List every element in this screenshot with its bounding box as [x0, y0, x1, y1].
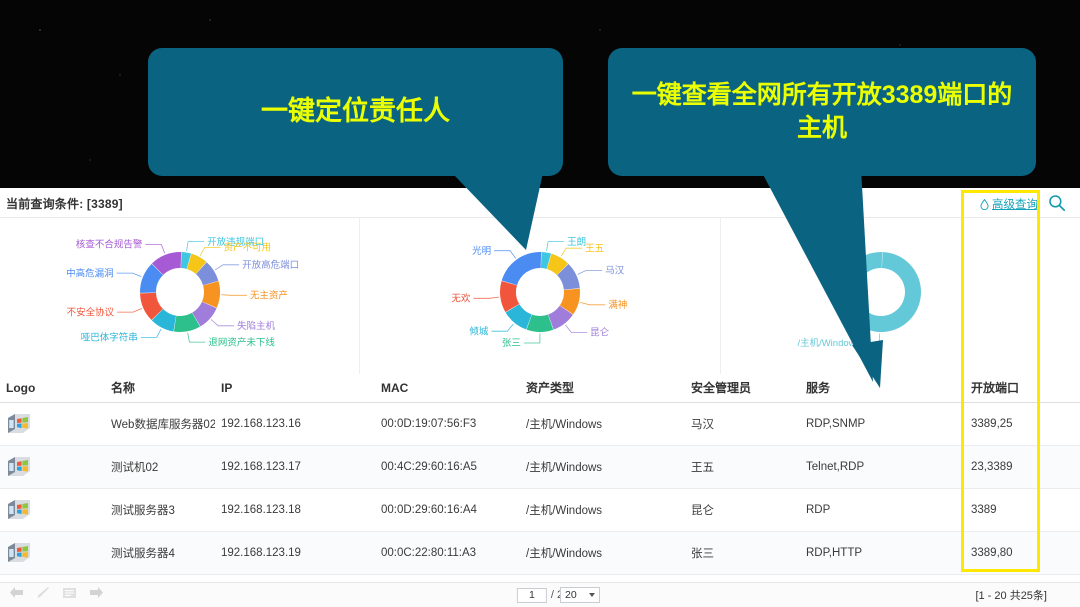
donut-segment-label: 张三	[502, 338, 521, 349]
donut-segment-label: 无主资产	[250, 290, 288, 302]
page-size-select[interactable]: 20	[560, 587, 600, 603]
asset-table: Logo 名称 IP MAC 资产类型 安全管理员 服务 开放端口 Web数据库…	[0, 374, 1080, 575]
callout-locate-owner: 一键定位责任人	[148, 48, 563, 176]
cell-security-admin: 张三	[685, 531, 800, 574]
donut-segment-label: 无欢	[452, 292, 472, 304]
cell-logo	[0, 402, 105, 445]
donut-segment-label: 开放高危端口	[242, 259, 299, 271]
pencil-icon[interactable]	[36, 586, 50, 604]
footer-action-icons	[0, 586, 104, 604]
list-icon[interactable]	[62, 586, 77, 604]
table-row[interactable]: 测试机02192.168.123.1700:4C:29:60:16:A5/主机/…	[0, 445, 1080, 488]
donut-leader-line	[581, 302, 606, 304]
donut-leader-line	[566, 325, 588, 333]
table-row[interactable]: 测试服务器3192.168.123.1800:0D:29:60:16:A4/主机…	[0, 488, 1080, 531]
current-query-condition: 当前查询条件: [3389]	[6, 195, 123, 212]
donut-leader-line	[215, 265, 239, 270]
donut-leader-line	[145, 245, 165, 254]
donut-leader-line	[188, 333, 206, 342]
cell-mac: 00:0C:22:80:11:A3	[375, 531, 520, 574]
cell-name: 测试服务器4	[105, 531, 215, 574]
cell-name: 测试服务器3	[105, 488, 215, 531]
donut-leader-line	[524, 334, 540, 344]
cell-asset-type: /主机/Windows	[520, 402, 685, 445]
cell-name: 测试机02	[105, 445, 215, 488]
donut-segment-label: 王五	[585, 243, 604, 254]
cell-open-ports: 3389,80	[965, 531, 1080, 574]
back-arrow-icon[interactable]	[9, 586, 24, 604]
cell-security-admin: 王五	[685, 445, 800, 488]
screenshot-stage: 当前查询条件: [3389] 高级查询 开放违规端口资产不可用开放高危端口无主资…	[0, 0, 1080, 607]
donut-leader-line	[221, 295, 247, 296]
donut-leader-line	[187, 242, 205, 251]
pagination-controls: / 2	[517, 588, 563, 603]
donut-segment-label: 失陷主机	[237, 320, 276, 332]
column-header-mac[interactable]: MAC	[375, 374, 520, 402]
donut-leader-line	[474, 297, 499, 298]
donut-leader-line	[200, 247, 221, 255]
donut-leader-line	[117, 273, 142, 277]
column-header-open-ports[interactable]: 开放端口	[965, 374, 1080, 402]
cell-ip: 192.168.123.16	[215, 402, 375, 445]
cell-logo	[0, 531, 105, 574]
cell-mac: 00:4C:29:60:16:A5	[375, 445, 520, 488]
cell-ip: 192.168.123.17	[215, 445, 375, 488]
table-row[interactable]: Web数据库服务器02192.168.123.1600:0D:19:07:56:…	[0, 402, 1080, 445]
donut-segment-label: 核查不合规告警	[76, 239, 143, 251]
cell-name: Web数据库服务器02	[105, 402, 215, 445]
windows-server-icon	[6, 456, 105, 478]
drop-icon	[980, 199, 989, 210]
donut-leader-line	[211, 320, 234, 326]
cell-asset-type: /主机/Windows	[520, 445, 685, 488]
cell-open-ports: 3389	[965, 488, 1080, 531]
cell-ip: 192.168.123.18	[215, 488, 375, 531]
cell-asset-type: /主机/Windows	[520, 531, 685, 574]
donut-leader-line	[141, 329, 161, 338]
cell-service: RDP,SNMP	[800, 402, 965, 445]
windows-server-icon	[6, 499, 105, 521]
cell-asset-type: /主机/Windows	[520, 488, 685, 531]
cell-service: RDP,HTTP	[800, 531, 965, 574]
donut-segment-label: 资产不可用	[224, 242, 272, 254]
cell-logo	[0, 488, 105, 531]
donut-segment-label: 中高危漏洞	[66, 267, 114, 279]
cell-mac: 00:0D:19:07:56:F3	[375, 402, 520, 445]
advanced-query-label: 高级查询	[992, 196, 1038, 212]
windows-server-icon	[6, 413, 105, 435]
cell-security-admin: 昆仑	[685, 488, 800, 531]
donut-segment-label: 马汉	[606, 266, 626, 277]
search-icon[interactable]	[1048, 194, 1066, 212]
cell-service: RDP	[800, 488, 965, 531]
record-count-label: [1 - 20 共25条]	[975, 587, 1047, 603]
donut-segment-label: 满神	[609, 299, 628, 311]
callout-view-3389-hosts: 一键查看全网所有开放3389端口的主机	[608, 48, 1036, 176]
table-body: Web数据库服务器02192.168.123.1600:0D:19:07:56:…	[0, 402, 1080, 574]
cell-service: Telnet,RDP	[800, 445, 965, 488]
column-header-asset-type[interactable]: 资产类型	[520, 374, 685, 402]
donut-segment-label: 昆仑	[590, 327, 610, 339]
chevron-down-icon	[589, 593, 595, 597]
donut-segment-label: 倾城	[470, 325, 490, 337]
callout-2-tail	[740, 150, 940, 390]
page-number-input[interactable]	[517, 588, 547, 603]
cell-logo	[0, 445, 105, 488]
windows-server-icon	[6, 542, 105, 564]
cell-security-admin: 马汉	[685, 402, 800, 445]
donut-segment-label: 退网资产未下线	[208, 336, 275, 348]
forward-arrow-icon[interactable]	[89, 586, 104, 604]
table-footer: / 2 20 [1 - 20 共25条]	[0, 582, 1080, 607]
cell-open-ports: 3389,25	[965, 402, 1080, 445]
donut-leader-line	[492, 324, 514, 331]
cell-ip: 192.168.123.19	[215, 531, 375, 574]
donut-segment-label: 哑巴体字符串	[81, 332, 138, 344]
table-row[interactable]: 测试服务器4192.168.123.1900:0C:22:80:11:A3/主机…	[0, 531, 1080, 574]
donut-segment-label: 不安全协议	[67, 306, 115, 318]
donut-segment[interactable]	[502, 252, 541, 285]
column-header-ip[interactable]: IP	[215, 374, 375, 402]
column-header-logo[interactable]: Logo	[0, 374, 105, 402]
column-header-name[interactable]: 名称	[105, 374, 215, 402]
page-size-value: 20	[565, 589, 577, 601]
cell-open-ports: 23,3389	[965, 445, 1080, 488]
chart-risk-types[interactable]: 开放违规端口资产不可用开放高危端口无主资产失陷主机退网资产未下线哑巴体字符串不安…	[0, 218, 359, 374]
advanced-query-link[interactable]: 高级查询	[980, 196, 1038, 212]
cell-mac: 00:0D:29:60:16:A4	[375, 488, 520, 531]
donut-leader-line	[578, 270, 603, 274]
donut-leader-line	[117, 308, 142, 312]
